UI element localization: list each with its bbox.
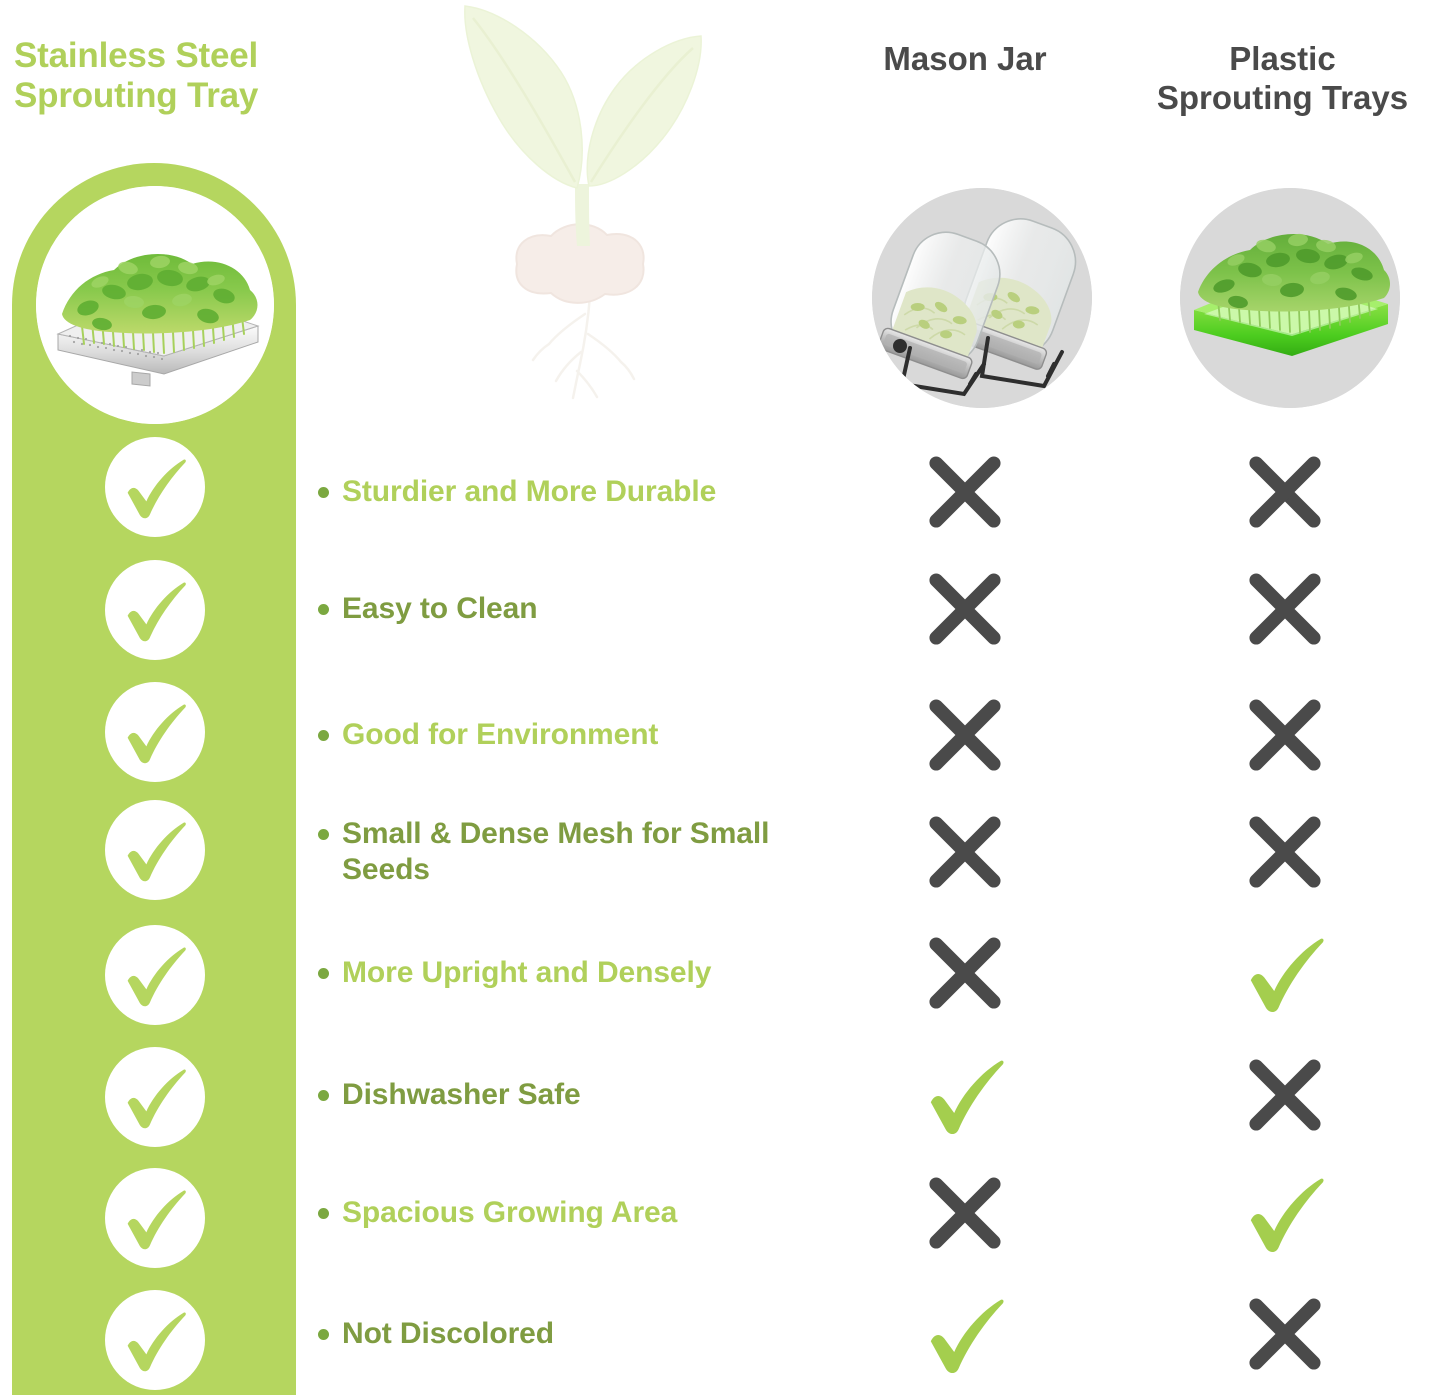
- product-photo-stainless-tray: [36, 186, 274, 424]
- cross-mark-icon: [1240, 1050, 1330, 1140]
- feature-label: Easy to Clean: [342, 591, 537, 627]
- mark-plastic-trays-row-2: [1240, 564, 1330, 654]
- column-header-plastic-trays-line2: Sprouting Trays: [1157, 79, 1408, 116]
- feature-row: Sturdier and More Durable: [318, 474, 858, 510]
- feature-label: Not Discolored: [342, 1316, 554, 1352]
- cross-mark-icon: [920, 447, 1010, 537]
- cross-mark-icon: [920, 690, 1010, 780]
- bullet-dot-icon: [318, 968, 329, 979]
- check-mark-icon: [1240, 1168, 1330, 1258]
- bullet-dot-icon: [318, 487, 329, 498]
- cross-mark-icon: [1240, 690, 1330, 780]
- cross-mark-icon: [1240, 807, 1330, 897]
- own-check-circle-8: [105, 1290, 205, 1390]
- feature-label: Sturdier and More Durable: [342, 474, 716, 510]
- own-check-circle-3: [105, 682, 205, 782]
- own-check-circle-5: [105, 925, 205, 1025]
- mark-plastic-trays-row-8: [1240, 1289, 1330, 1379]
- product-title-line1: Stainless Steel: [14, 36, 258, 75]
- cross-mark-icon: [920, 928, 1010, 1018]
- bullet-dot-icon: [318, 1329, 329, 1340]
- column-header-mason-jar-line1: Mason Jar: [883, 40, 1046, 77]
- feature-row: Dishwasher Safe: [318, 1077, 858, 1113]
- feature-label: Spacious Growing Area: [342, 1195, 677, 1231]
- mark-plastic-trays-row-1: [1240, 447, 1330, 537]
- mark-plastic-trays-row-7: [1240, 1168, 1330, 1258]
- bullet-dot-icon: [318, 1090, 329, 1101]
- cross-mark-icon: [920, 564, 1010, 654]
- column-header-mason-jar: Mason Jar: [820, 40, 1110, 79]
- feature-row: Not Discolored: [318, 1316, 858, 1352]
- page-title: Stainless Steel Sprouting Tray: [14, 36, 344, 115]
- mark-mason-jar-row-3: [920, 690, 1010, 780]
- cross-mark-icon: [1240, 564, 1330, 654]
- mark-mason-jar-row-7: [920, 1168, 1010, 1258]
- mark-mason-jar-row-1: [920, 447, 1010, 537]
- own-check-circle-1: [105, 437, 205, 537]
- feature-row: More Upright and Densely: [318, 955, 858, 991]
- own-check-circle-6: [105, 1047, 205, 1147]
- feature-row: Spacious Growing Area: [318, 1195, 858, 1231]
- mark-mason-jar-row-8: [920, 1289, 1010, 1379]
- mark-mason-jar-row-6: [920, 1050, 1010, 1140]
- feature-row: Easy to Clean: [318, 591, 858, 627]
- sprout-seedling-watermark-icon: [425, 0, 755, 416]
- own-check-circle-2: [105, 560, 205, 660]
- product-title-line2: Sprouting Tray: [14, 76, 258, 115]
- own-check-circle-4: [105, 800, 205, 900]
- cross-mark-icon: [920, 807, 1010, 897]
- product-photo-plastic-tray: [1180, 188, 1400, 408]
- mark-plastic-trays-row-3: [1240, 690, 1330, 780]
- mark-plastic-trays-row-6: [1240, 1050, 1330, 1140]
- feature-row: Small & Dense Mesh for Small Seeds: [318, 816, 858, 888]
- feature-label: Small & Dense Mesh for Small Seeds: [342, 816, 858, 888]
- bullet-dot-icon: [318, 604, 329, 615]
- feature-label: More Upright and Densely: [342, 955, 711, 991]
- cross-mark-icon: [1240, 447, 1330, 537]
- column-header-plastic-trays: Plastic Sprouting Trays: [1130, 40, 1435, 117]
- cross-mark-icon: [920, 1168, 1010, 1258]
- mark-mason-jar-row-4: [920, 807, 1010, 897]
- bullet-dot-icon: [318, 730, 329, 741]
- feature-label: Good for Environment: [342, 717, 658, 753]
- bullet-dot-icon: [318, 1208, 329, 1219]
- feature-label: Dishwasher Safe: [342, 1077, 581, 1113]
- bullet-dot-icon: [318, 829, 329, 840]
- product-photo-mason-jar: [872, 188, 1092, 408]
- own-check-circle-7: [105, 1168, 205, 1268]
- mark-plastic-trays-row-5: [1240, 928, 1330, 1018]
- mark-mason-jar-row-5: [920, 928, 1010, 1018]
- check-mark-icon: [920, 1289, 1010, 1379]
- mark-mason-jar-row-2: [920, 564, 1010, 654]
- feature-row: Good for Environment: [318, 717, 858, 753]
- check-mark-icon: [920, 1050, 1010, 1140]
- column-header-plastic-trays-line1: Plastic: [1229, 40, 1335, 77]
- cross-mark-icon: [1240, 1289, 1330, 1379]
- mark-plastic-trays-row-4: [1240, 807, 1330, 897]
- check-mark-icon: [1240, 928, 1330, 1018]
